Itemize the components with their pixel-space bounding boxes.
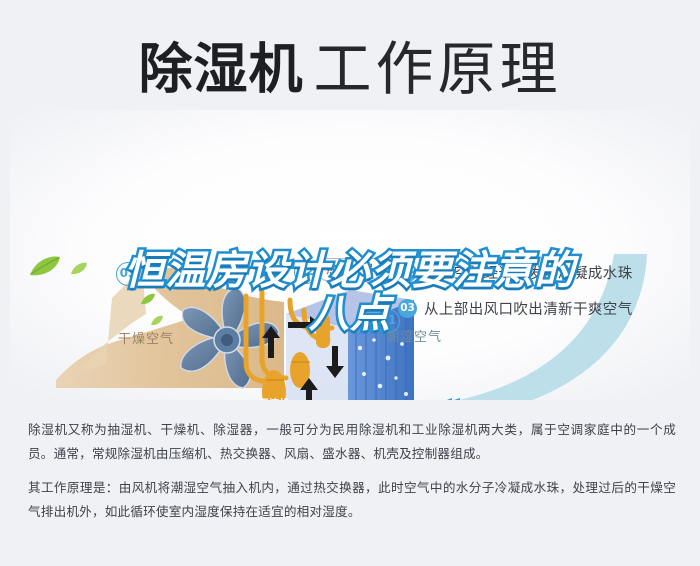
callout-tail [348, 279, 362, 290]
leaf-icon [28, 255, 62, 279]
legend-badge-03: 03 [398, 299, 417, 318]
page-title-bold: 除湿机 [138, 38, 303, 101]
legend-text-03: 从上部出风口吹出清新干爽空气 [424, 298, 633, 319]
body-paragraph-1: 除湿机又称为抽湿机、干燥机、除湿器，一般可分为民用除湿机和工业除湿机两大类，属于… [28, 418, 676, 466]
page-title: 除湿机工作原理 [0, 22, 700, 106]
body-paragraph-2: 其工作原理是：由风机将潮湿空气抽入机内，通过热交换器，此时空气中的水分子冷凝成水… [28, 476, 676, 524]
diagram-legend: 02 潮湿空气经过蒸发器冷凝成水珠 03 从上部出风口吹出清新干爽空气 [398, 262, 688, 334]
article-body: 除湿机又称为抽湿机、干燥机、除湿器，一般可分为民用除湿机和工业除湿机两大类，属于… [28, 418, 676, 534]
diagram-marker-03: 03 [116, 262, 140, 286]
leaf-icon [150, 315, 164, 327]
diagram-marker-02: 02 [294, 260, 318, 284]
caption-compressor: 压缩机 [258, 396, 290, 400]
dehumidifier-diagram: 水箱 热交换器 01 02 03 干燥空气 潮湿空气 压缩机 [0, 110, 700, 400]
leaf-icon [70, 262, 88, 276]
caption-dry-air: 干燥空气 [118, 328, 174, 347]
page-title-light: 工作原理 [313, 35, 561, 103]
legend-badge-02: 02 [398, 263, 417, 282]
leaf-icon [140, 293, 156, 306]
legend-text-02: 潮湿空气经过蒸发器冷凝成水珠 [424, 262, 633, 283]
page-root: 除湿机工作原理 [0, 0, 700, 566]
legend-item: 02 潮湿空气经过蒸发器冷凝成水珠 [398, 262, 688, 283]
heat-exchanger-callout: 热交换器 [318, 258, 382, 281]
legend-item: 03 从上部出风口吹出清新干爽空气 [398, 298, 688, 319]
